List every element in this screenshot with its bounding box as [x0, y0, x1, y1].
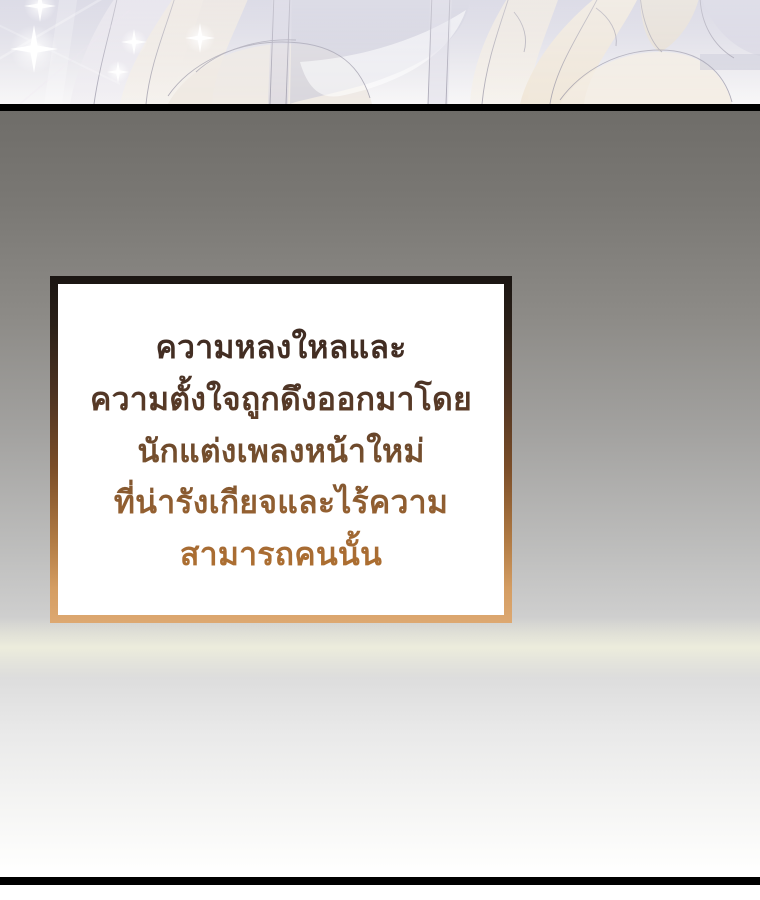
top-illustration-panel — [0, 0, 760, 104]
sparkle-icon — [121, 29, 147, 55]
comic-page: ความหลงใหลและ ความตั้งใจถูกดึงออกมาโดย น… — [0, 0, 760, 900]
caption-line: สามารถคนนั้น — [58, 529, 504, 581]
panel-divider-top — [0, 104, 760, 111]
panel-divider-bottom — [0, 877, 760, 885]
caption-inner: ความหลงใหลและ ความตั้งใจถูกดึงออกมาโดย น… — [58, 284, 504, 615]
dialogue-caption-box: ความหลงใหลและ ความตั้งใจถูกดึงออกมาโดย น… — [50, 276, 512, 623]
sparkle-icon — [185, 23, 215, 53]
caption-line: ความตั้งใจถูกดึงออกมาโดย — [58, 374, 504, 426]
caption-text: ความหลงใหลและ ความตั้งใจถูกดึงออกมาโดย น… — [58, 322, 504, 581]
caption-line: นักแต่งเพลงหน้าใหม่ — [58, 426, 504, 478]
caption-line: ที่น่ารังเกียจและไร้ความ — [58, 477, 504, 529]
panel-light-sheen — [0, 617, 760, 678]
caption-line: ความหลงใหลและ — [58, 322, 504, 374]
top-panel-artwork — [0, 0, 760, 104]
